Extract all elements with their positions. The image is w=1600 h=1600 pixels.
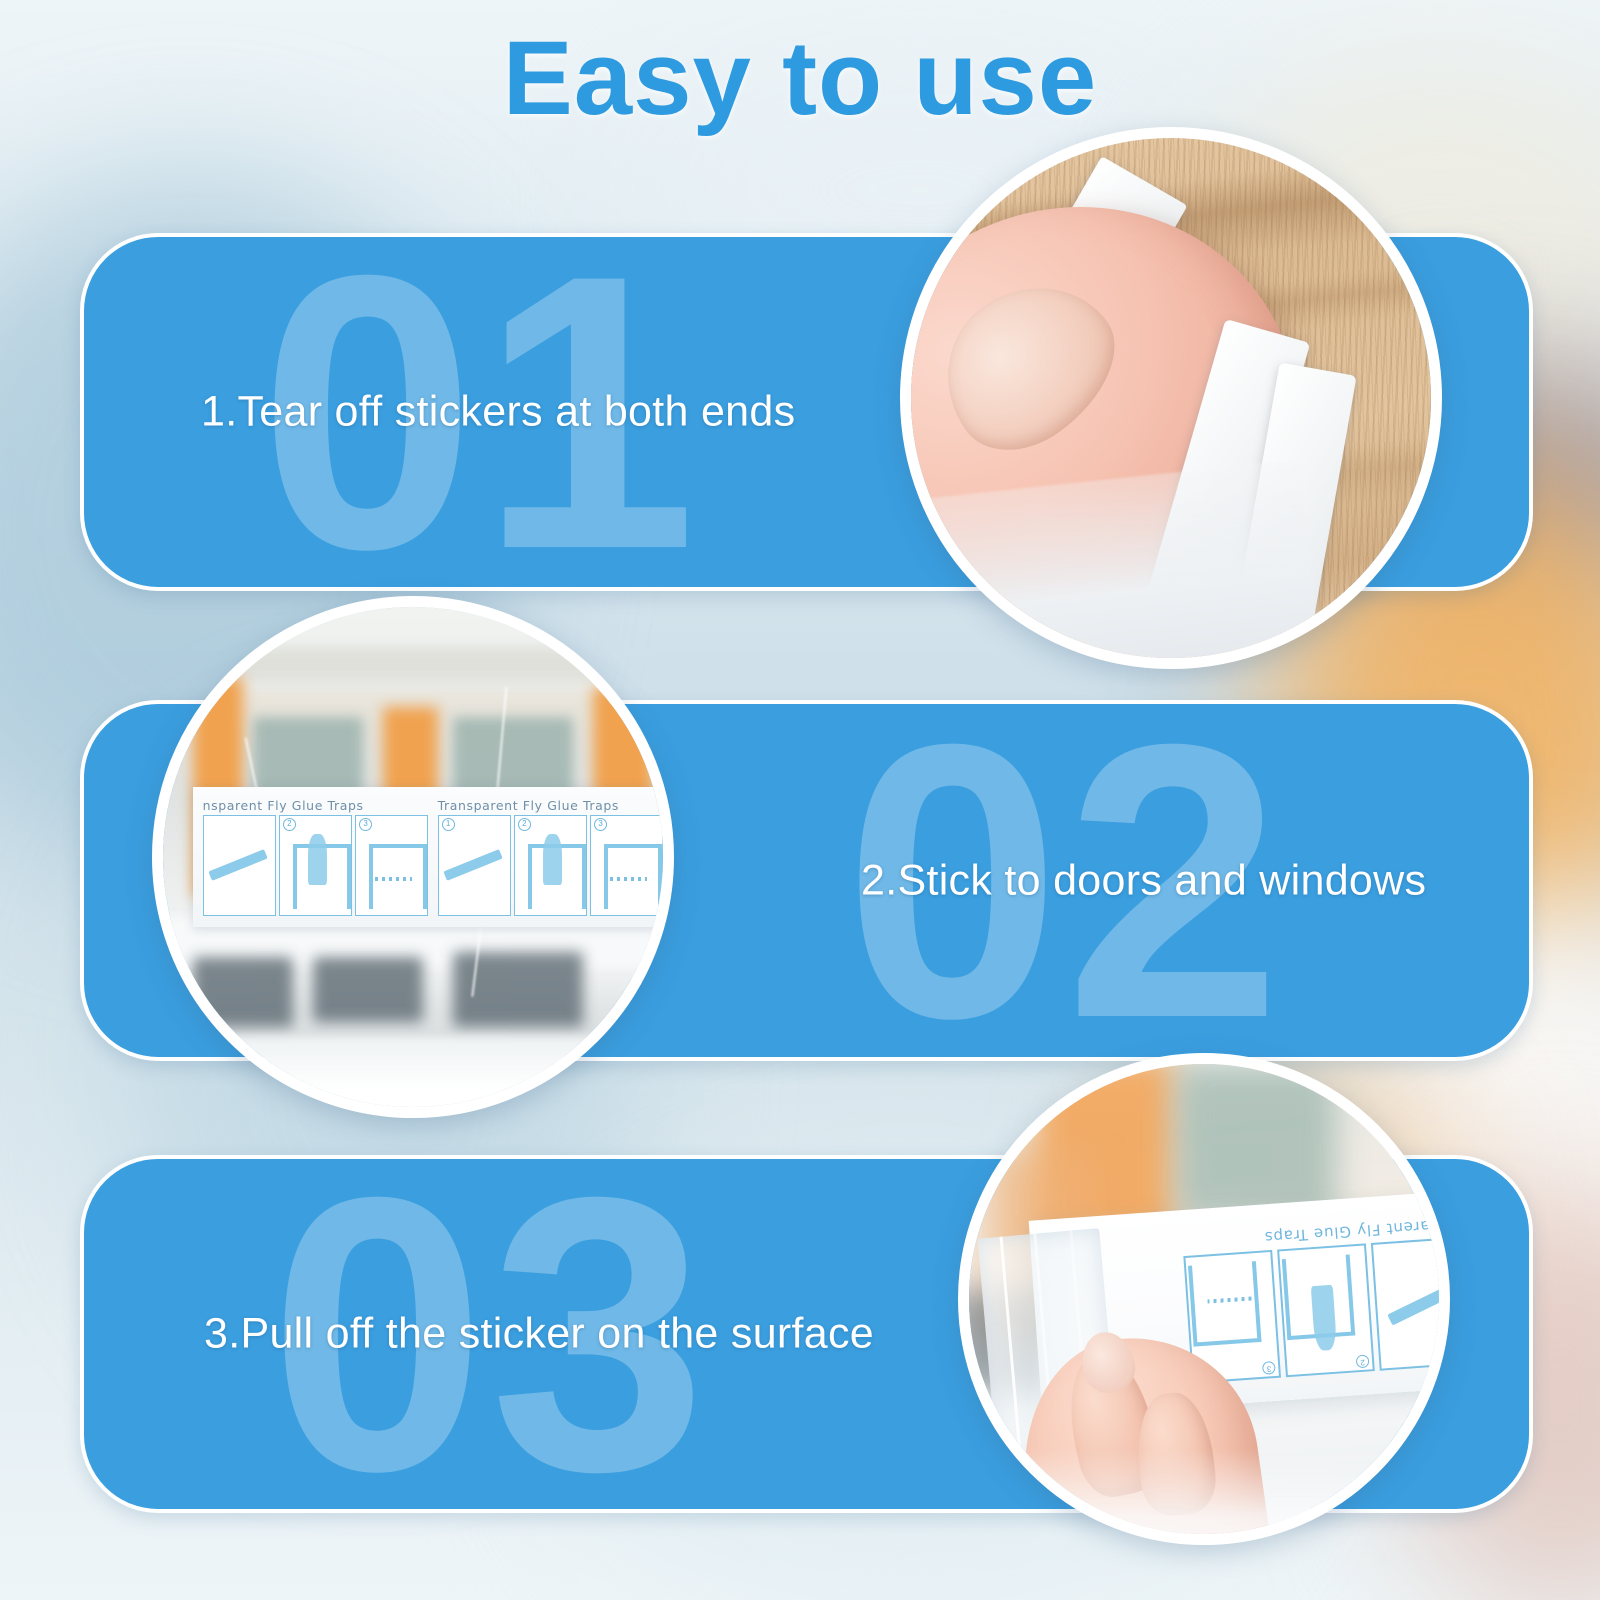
fly-glue-trap-strip: nsparent Fly Glue Traps 2 3 [193, 787, 663, 927]
step-photo-1 [900, 127, 1442, 669]
building-foreground-sill [163, 1037, 663, 1107]
trap-step-marker: 2 [518, 818, 531, 831]
trap-brand-text: nsparent Fly Glue Traps [203, 798, 429, 813]
trap-strip-icon [1386, 1283, 1439, 1325]
trap-step-marker: 1 [442, 818, 455, 831]
trap-diagram-cell: 3 [355, 815, 428, 916]
step-text-3: 3.Pull off the sticker on the surface [204, 1310, 874, 1359]
trap-diagram-cells: 1 2 3 [438, 815, 663, 916]
trap-diagram-cell: 1 [438, 815, 511, 916]
building-dark-window [313, 957, 423, 1022]
trap-label-row: nsparent Fly Glue Traps 2 3 [203, 798, 663, 916]
trap-diagram-cell: 2 [279, 815, 352, 916]
trap-diagram-cells: 2 3 [203, 815, 429, 916]
fly-dots-icon [375, 877, 412, 881]
trap-step-marker: 2 [283, 818, 296, 831]
step-photo-3: 1 2 3 nsparent Fly Glue Traps [958, 1053, 1450, 1545]
trap-diagram-cell: 2 [1277, 1243, 1375, 1377]
trap-diagram-cell: 2 [514, 815, 587, 916]
trap-diagram-cell: 3 [590, 815, 663, 916]
trap-diagram-cell: 1 [1371, 1236, 1439, 1370]
trap-brand-text: Transparent Fly Glue Traps [438, 798, 663, 813]
hand-icon [1310, 1285, 1337, 1351]
trap-step-marker: 3 [594, 818, 607, 831]
trap-step-marker: 3 [359, 818, 372, 831]
trap-diagram-cell [203, 815, 276, 916]
photo-3-content: 1 2 3 nsparent Fly Glue Traps [969, 1064, 1439, 1534]
surface-glow [969, 1449, 1439, 1534]
trap-strip-icon [208, 849, 267, 881]
trap-label-panel: nsparent Fly Glue Traps 2 3 [203, 798, 429, 916]
page-title: Easy to use [0, 24, 1600, 134]
door-frame-icon [1188, 1261, 1261, 1346]
trap-step-marker: 2 [1355, 1354, 1369, 1368]
step-text-1: 1.Tear off stickers at both ends [201, 388, 795, 437]
photo-2-content: nsparent Fly Glue Traps 2 3 [163, 607, 663, 1107]
building-dark-window [193, 957, 293, 1027]
trap-label-panel: Transparent Fly Glue Traps 1 2 3 [438, 798, 663, 916]
step-photo-2: nsparent Fly Glue Traps 2 3 [152, 596, 674, 1118]
step-text-2: 2.Stick to doors and windows [861, 856, 1426, 905]
trap-strip-icon [443, 849, 502, 881]
thumbnail [913, 253, 1143, 476]
fly-dots-icon [610, 877, 647, 881]
trap-print-flipped: 1 2 3 nsparent Fly Glue Traps [1182, 1215, 1439, 1384]
trap-diagram-cells: 1 2 3 [1183, 1236, 1439, 1383]
trap-step-marker: 3 [1262, 1361, 1276, 1375]
photo-1-content [911, 138, 1431, 658]
hand-icon [543, 834, 562, 885]
hand-icon [308, 834, 327, 885]
backdrop-green-blur [1176, 1064, 1336, 1219]
